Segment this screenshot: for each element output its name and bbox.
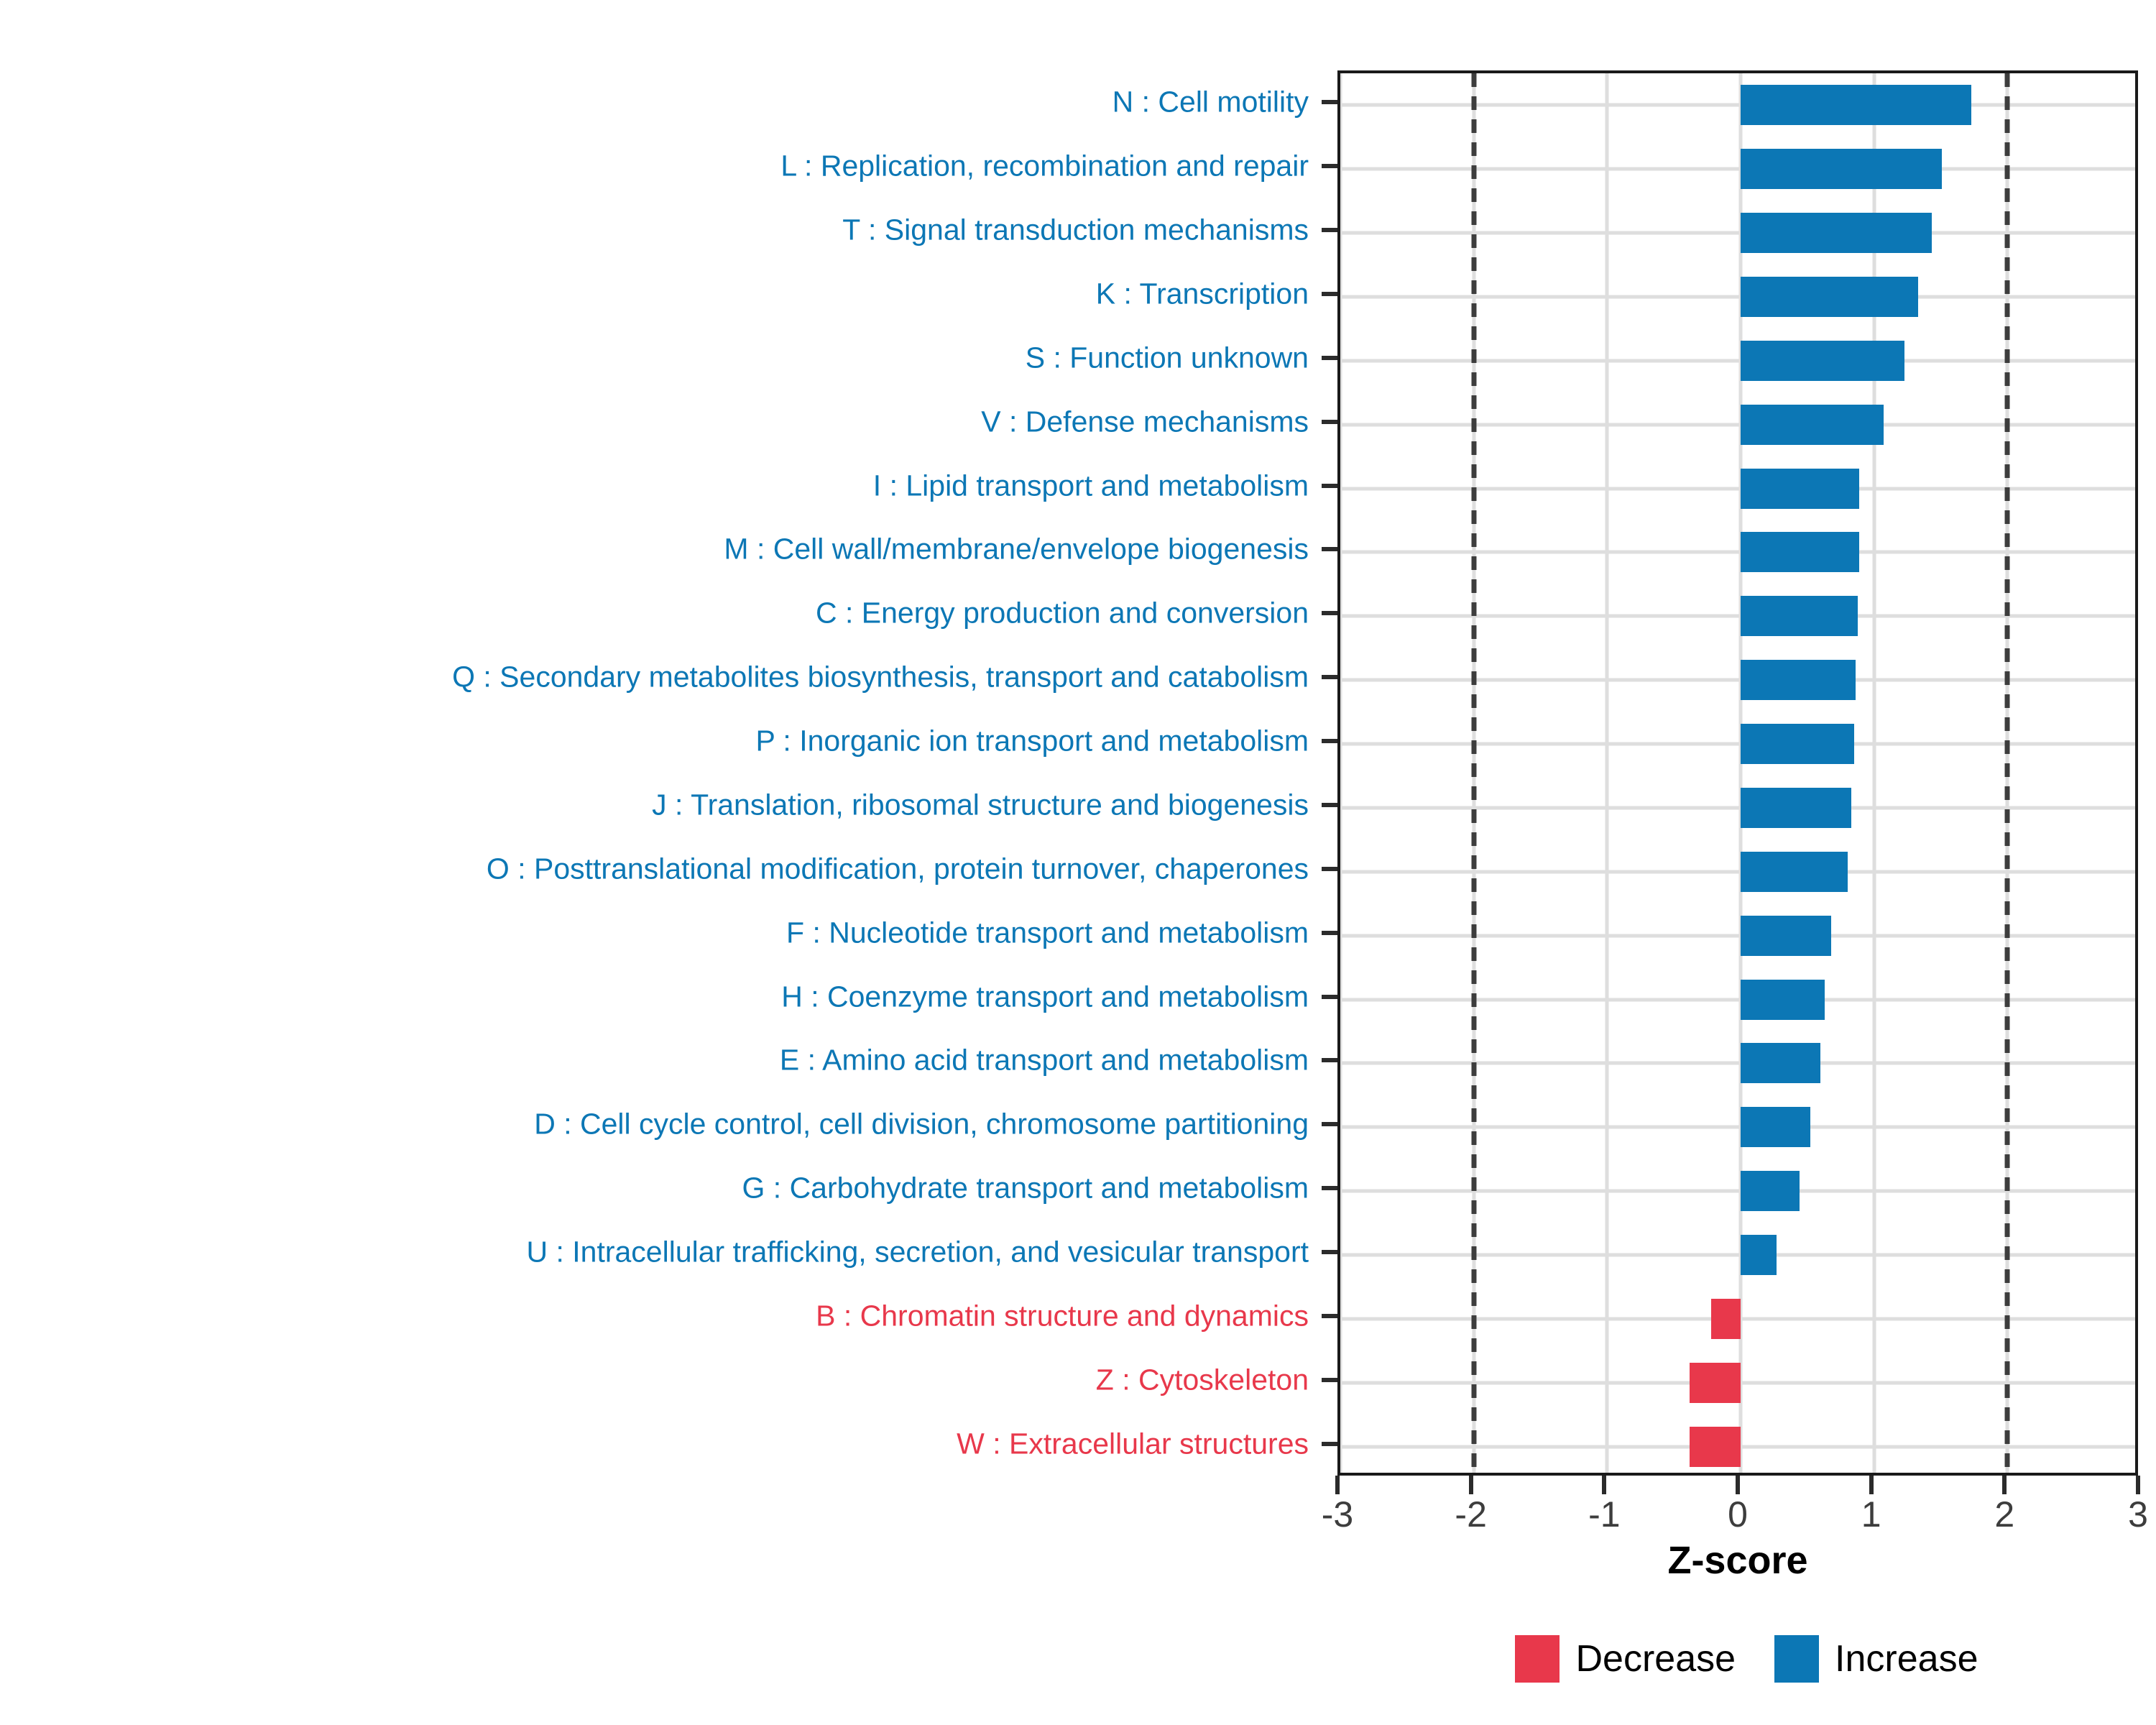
horizontal-gridline <box>1340 1253 2135 1256</box>
horizontal-gridline <box>1340 103 2135 107</box>
bar <box>1741 149 1942 189</box>
y-axis-tick <box>1322 1122 1337 1126</box>
horizontal-gridline <box>1340 934 2135 937</box>
bar <box>1741 852 1848 892</box>
y-axis-tick <box>1322 547 1337 551</box>
y-axis-labels: N : Cell motilityL : Replication, recomb… <box>0 70 1337 1476</box>
y-axis-tick <box>1322 739 1337 743</box>
bar <box>1741 213 1932 253</box>
horizontal-gridline <box>1340 359 2135 362</box>
y-axis-category-label: F : Nucleotide transport and metabolism <box>786 918 1309 947</box>
y-axis-tick <box>1322 100 1337 104</box>
y-axis-tick <box>1322 1314 1337 1318</box>
bar <box>1741 1171 1800 1211</box>
y-axis-tick <box>1322 1058 1337 1062</box>
horizontal-gridline <box>1340 1190 2135 1193</box>
x-axis-tick <box>2136 1476 2140 1494</box>
x-axis-tick <box>1736 1476 1740 1494</box>
horizontal-gridline <box>1340 295 2135 299</box>
bar <box>1690 1427 1741 1467</box>
reference-line <box>1471 73 1476 1473</box>
y-axis-tick <box>1322 164 1337 168</box>
legend-swatch <box>1515 1635 1560 1683</box>
y-axis-tick <box>1322 484 1337 488</box>
y-axis-category-label: T : Signal transduction mechanisms <box>842 216 1309 245</box>
bar <box>1741 916 1831 956</box>
bar <box>1741 277 1918 317</box>
horizontal-gridline <box>1340 998 2135 1001</box>
horizontal-gridline <box>1340 870 2135 873</box>
y-axis-tick <box>1322 1250 1337 1254</box>
y-axis-category-label: M : Cell wall/membrane/envelope biogenes… <box>724 535 1309 564</box>
y-axis-tick <box>1322 1378 1337 1382</box>
y-axis-category-label: H : Coenzyme transport and metabolism <box>781 982 1309 1011</box>
y-axis-category-label: Q : Secondary metabolites biosynthesis, … <box>452 663 1309 692</box>
bar <box>1741 469 1859 509</box>
x-axis-tick-labels: -3-2-10123 <box>1337 1494 2138 1537</box>
y-axis-tick <box>1322 867 1337 871</box>
horizontal-gridline <box>1340 742 2135 746</box>
y-axis-tick <box>1322 931 1337 935</box>
x-axis-tick-label: 2 <box>1994 1494 2014 1535</box>
x-axis-tick <box>1602 1476 1606 1494</box>
x-axis-tick-label: 1 <box>1861 1494 1881 1535</box>
vertical-gridline <box>1339 73 1342 1473</box>
y-axis-tick <box>1322 675 1337 679</box>
legend-swatch <box>1774 1635 1819 1683</box>
y-axis-category-label: G : Carbohydrate transport and metabolis… <box>742 1174 1309 1203</box>
y-axis-category-label: N : Cell motility <box>1112 88 1309 117</box>
x-axis-title: Z-score <box>1337 1538 2138 1583</box>
x-axis-tick-label: 0 <box>1728 1494 1748 1535</box>
horizontal-gridline <box>1340 167 2135 171</box>
legend-label: Decrease <box>1575 1639 1736 1679</box>
y-axis-category-label: J : Translation, ribosomal structure and… <box>652 790 1309 819</box>
bar <box>1690 1363 1741 1403</box>
horizontal-gridline <box>1340 806 2135 809</box>
legend-item[interactable]: Decrease <box>1515 1635 1736 1683</box>
legend-item[interactable]: Increase <box>1774 1635 1978 1683</box>
legend: DecreaseIncrease <box>1337 1623 2156 1695</box>
x-axis-ticks <box>1337 1476 2138 1494</box>
vertical-gridline <box>1606 73 1609 1473</box>
y-axis-tick <box>1322 1442 1337 1446</box>
y-axis-category-label: Z : Cytoskeleton <box>1096 1365 1309 1394</box>
bar <box>1741 724 1854 764</box>
y-axis-category-label: C : Energy production and conversion <box>816 599 1309 628</box>
y-axis-tick <box>1322 611 1337 615</box>
bar <box>1741 532 1859 572</box>
bar <box>1741 1043 1820 1083</box>
y-axis-tick <box>1322 228 1337 232</box>
x-axis-tick <box>1869 1476 1874 1494</box>
y-axis-tick <box>1322 356 1337 360</box>
cog-enrichment-zscore-chart: N : Cell motilityL : Replication, recomb… <box>0 0 2156 1725</box>
horizontal-gridline <box>1340 551 2135 554</box>
y-axis-category-label: B : Chromatin structure and dynamics <box>816 1301 1309 1330</box>
y-axis-tick <box>1322 420 1337 424</box>
bar <box>1741 405 1884 445</box>
x-axis-tick-label: -1 <box>1588 1494 1620 1535</box>
plot-area <box>1337 70 2138 1476</box>
y-axis-tick <box>1322 1186 1337 1190</box>
y-axis-tick <box>1322 803 1337 807</box>
bar <box>1741 1235 1777 1275</box>
bar <box>1741 1107 1810 1147</box>
bar <box>1741 980 1825 1020</box>
horizontal-gridline <box>1340 423 2135 426</box>
horizontal-gridline <box>1340 487 2135 490</box>
x-axis-tick-label: 3 <box>2128 1494 2148 1535</box>
bar <box>1741 341 1904 381</box>
bar <box>1741 596 1858 636</box>
reference-line <box>2005 73 2010 1473</box>
y-axis-category-label: O : Posttranslational modification, prot… <box>487 854 1309 883</box>
y-axis-category-label: P : Inorganic ion transport and metaboli… <box>755 727 1309 756</box>
y-axis-tick <box>1322 995 1337 999</box>
legend-label: Increase <box>1835 1639 1978 1679</box>
bar <box>1711 1299 1741 1339</box>
y-axis-category-label: I : Lipid transport and metabolism <box>873 471 1309 500</box>
bar <box>1741 788 1851 828</box>
y-axis-category-label: U : Intracellular trafficking, secretion… <box>526 1237 1309 1266</box>
horizontal-gridline <box>1340 678 2135 682</box>
x-axis-tick <box>2002 1476 2007 1494</box>
horizontal-gridline <box>1340 615 2135 618</box>
x-axis-tick <box>1469 1476 1473 1494</box>
horizontal-gridline <box>1340 231 2135 235</box>
y-axis-category-label: V : Defense mechanisms <box>981 407 1309 436</box>
bar <box>1741 85 1971 125</box>
x-axis-tick-label: -3 <box>1322 1494 1353 1535</box>
y-axis-tick <box>1322 292 1337 296</box>
bar <box>1741 660 1856 700</box>
horizontal-gridline <box>1340 1062 2135 1065</box>
y-axis-category-label: D : Cell cycle control, cell division, c… <box>534 1110 1309 1139</box>
x-axis-tick <box>1335 1476 1340 1494</box>
y-axis-category-label: W : Extracellular structures <box>957 1429 1309 1458</box>
horizontal-gridline <box>1340 1126 2135 1129</box>
y-axis-category-label: E : Amino acid transport and metabolism <box>780 1046 1309 1075</box>
y-axis-category-label: L : Replication, recombination and repai… <box>780 152 1309 181</box>
x-axis-tick-label: -2 <box>1455 1494 1486 1535</box>
y-axis-category-label: K : Transcription <box>1096 280 1309 309</box>
y-axis-category-label: S : Function unknown <box>1026 343 1309 372</box>
